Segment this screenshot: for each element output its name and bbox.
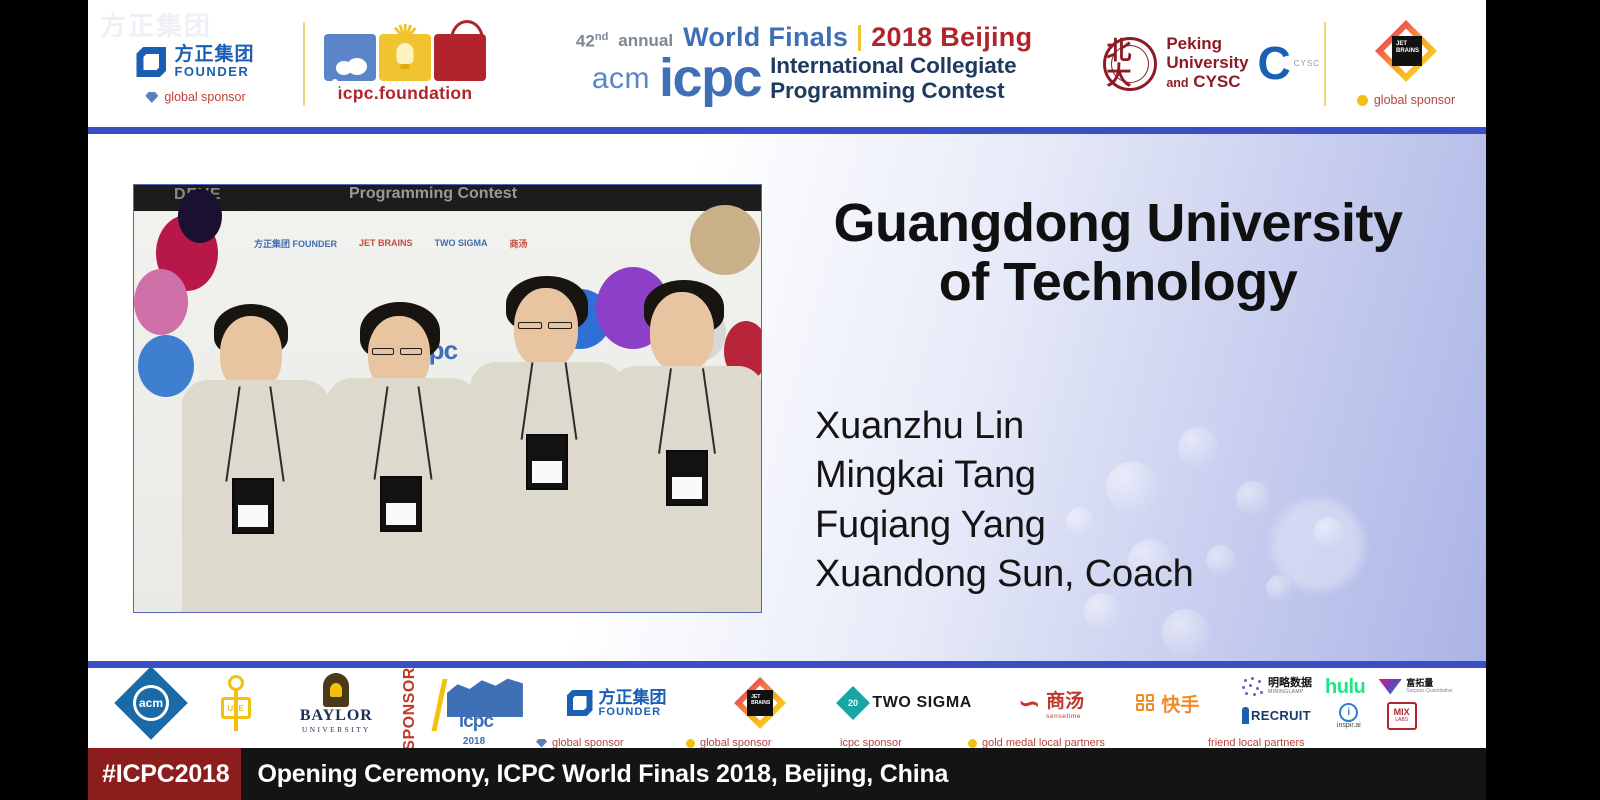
icpc-wall-label: icpc [459,711,493,733]
foundation-tile-cloud [324,34,376,81]
foundation-logo-icon [324,23,486,81]
jetbrains-logo-icon-footer: JET BRAINS [734,677,786,729]
recruit-label: RECRUIT [1251,708,1311,723]
peking-university-text: Peking University and CYSC [1166,35,1248,91]
broadcast-caption-bar: #ICPC2018 Opening Ceremony, ICPC World F… [88,748,1486,800]
founder-sponsor-tag: global sponsor [145,90,245,104]
mixlabs-line1: MIX [1394,708,1410,717]
team-member-4 [608,264,762,612]
header-separator-bar [858,25,861,51]
team-photo: DEVE Programming Contest 方正集团 FOUNDER JE… [133,184,762,613]
footer-sponsor-icpc-beijing: icpc 2018 [425,675,537,731]
peking-university-seal-icon: 北大 [1103,37,1157,91]
founder-footer-lockup: 方正集团 FOUNDER [567,689,667,718]
caption-global-sponsor-2: global sponsor [686,737,772,748]
local-partner-row-2: RECRUIT i inspir.ai MIX LABS [1242,702,1453,730]
founder-footer-cn: 方正集团 [599,689,667,706]
mininglamp-cn: 明略数据 [1268,678,1312,689]
inspirai-lockup: i inspir.ai [1337,703,1361,729]
mininglamp-lockup: 明略数据 MININGLAMP [1242,677,1312,697]
caption-icpc-sponsor: icpc sponsor [840,737,902,748]
balloon-icon [450,20,484,64]
upe-logo-text: UPE [221,697,251,719]
year-city-label: 2018 Beijing [871,22,1032,53]
kuaishou-mark-icon [1136,694,1156,712]
sponsor-icpc-foundation: icpc.foundation [305,23,505,104]
founder-lockup: 方正集团 FOUNDER [136,45,254,80]
acm-logo-icon: acm [114,668,188,740]
icpc-subtitle-line2: Programming Contest [770,79,1016,103]
slide-title-line2: of Technology [788,253,1448,312]
footer-sponsor-kuaishou: 快手 [1113,690,1223,717]
cysc-sub-label: CYSC [1294,59,1320,68]
icpc-wordmark-lockup: 42nd annual World Finals 2018 Beijing ac… [505,22,1103,104]
jetbrains-sponsor-tag: global sponsor [1357,93,1455,107]
founder-english-name: FOUNDER [174,64,254,79]
caption-title-text: Opening Ceremony, ICPC World Finals 2018… [241,748,1486,800]
mininglamp-en: MININGLAMP [1268,689,1312,695]
peking-line2: University [1166,54,1248,73]
sensetime-en: sensetime [1046,713,1084,720]
footer-sponsor-local-partners: 明略数据 MININGLAMP hulu 富拓量 Surpass Quantit… [1223,677,1472,730]
caption-gold-medal-partners: gold medal local partners [968,737,1105,748]
cysc-mark-icon: C [1258,47,1291,79]
mixlabs-line2: LABS [1395,717,1408,723]
caption-text-1: global sponsor [552,737,624,748]
sponsor-footer: acm UPE BAYLOR UNIVERSITY SPONS [88,668,1486,748]
team-member-name-3: Fuqiang Yang [815,501,1194,550]
hashtag-badge: #ICPC2018 [88,748,241,800]
footer-sponsor-sensetime: ∽ 商汤 sensetime [989,686,1113,720]
team-member-name-2: Mingkai Tang [815,451,1194,500]
team-member-3 [470,262,624,612]
team-member-2 [326,274,478,612]
peking-line3: and CYSC [1166,73,1248,92]
two-sigma-label: TWO SIGMA [872,694,972,712]
backdrop-logo-sensetime: 商汤 [510,237,528,250]
footer-sponsors-vertical-label: SPONSORS [395,668,425,748]
event-header-banner: 方正集团 方正集团 FOUNDER global sponsor [88,0,1486,127]
kuaishou-cn: 快手 [1161,690,1199,717]
icpc-subtitle-line1: International Collegiate [770,54,1016,78]
jetbrains-logo-icon: JET BRAINS [1375,20,1437,82]
presentation-slide: DEVE Programming Contest 方正集团 FOUNDER JE… [88,134,1486,661]
cysc-logo: C CYSC [1258,47,1320,79]
footer-sponsor-founder: 方正集团 FOUNDER [537,689,697,718]
dot-icon-footer-2 [968,739,977,748]
diamond-icon-footer [536,739,547,748]
screen: 方正集团 方正集团 FOUNDER global sponsor [0,0,1600,800]
jetbrains-sponsor-label: global sponsor [1374,93,1455,107]
baylor-shield-icon [323,673,349,707]
hulu-label: hulu [1325,677,1365,697]
two-sigma-mark-icon: 20 [836,686,870,720]
acm-icpc-line: acm icpc International Collegiate Progra… [592,54,1017,102]
mixlabs-logo-icon: MIX LABS [1387,702,1417,730]
acm-logo-text: acm [139,696,163,710]
footer-sponsor-upe: UPE [194,675,278,731]
upe-logo-icon: UPE [219,675,253,731]
slide-title-line1: Guangdong University [788,194,1448,253]
backdrop-logo-founder: 方正集团 FOUNDER [254,237,337,250]
founder-chinese-name: 方正集团 [174,45,254,65]
rays-icon [377,16,433,40]
footer-sponsor-acm: acm [108,677,194,729]
founder-sponsor-label: global sponsor [164,90,245,104]
header-divider-2 [1324,22,1326,106]
kuaishou-lockup: 快手 [1136,690,1199,717]
local-partner-grid: 明略数据 MININGLAMP hulu 富拓量 Surpass Quantit… [1242,677,1453,730]
baylor-name: BAYLOR [300,707,373,725]
photo-backdrop-logos: 方正集团 FOUNDER JET BRAINS TWO SIGMA 商汤 [254,219,674,267]
caption-global-sponsor-1: global sponsor [536,737,624,748]
header-bottom-divider [88,127,1486,134]
recruit-mark-icon [1242,707,1249,724]
header-watermark: 方正集团 [100,6,212,43]
founder-logo-icon-footer [567,690,593,716]
jetbrains-mark-text: JET BRAINS [1396,41,1422,54]
foundation-tile-bulb [379,34,431,81]
sensetime-cn: 商汤 [1046,686,1084,713]
diamond-icon [145,92,158,103]
sensetime-lockup: ∽ 商汤 sensetime [1018,686,1084,720]
two-sigma-lockup: 20 TWO SIGMA [841,691,972,715]
caption-text-2: global sponsor [700,737,772,748]
sponsor-category-captions: global sponsor global sponsor icpc spons… [88,737,1486,748]
recruit-lockup: RECRUIT [1242,707,1311,724]
surpass-lockup: 富拓量 Surpass Quantitative [1378,679,1452,695]
edition-number: 42nd [576,31,608,52]
team-member-1 [180,282,330,612]
caption-text-5: friend local partners [1208,737,1305,748]
team-member-name-4: Xuandong Sun, Coach [815,550,1194,599]
team-member-list: Xuanzhu Lin Mingkai Tang Fuqiang Yang Xu… [815,402,1194,600]
founder-footer-en: FOUNDER [599,706,667,718]
caption-friend-partners: friend local partners [1208,737,1305,748]
backdrop-logo-twosigma: TWO SIGMA [435,238,488,248]
sponsor-logo-row: acm UPE BAYLOR UNIVERSITY SPONS [88,668,1486,734]
peking-seal-glyph: 北大 [1106,39,1154,89]
cloud-icon [332,57,372,79]
balloon-dark [178,189,222,243]
surpass-mark-icon [1378,679,1402,695]
team-member-name-1: Xuanzhu Lin [815,402,1194,451]
acm-label: acm [592,62,650,96]
founder-logo-icon [136,47,166,77]
baylor-subname: UNIVERSITY [302,725,371,734]
local-partner-row-1: 明略数据 MININGLAMP hulu 富拓量 Surpass Quantit… [1242,677,1453,697]
great-wall-icpc-icon: icpc 2018 [437,675,525,731]
backdrop-logo-jetbrains: JET BRAINS [359,238,413,248]
sponsor-jetbrains-header: JET BRAINS global sponsor [1326,20,1486,107]
mininglamp-dots-icon [1242,677,1264,697]
footer-top-divider [88,661,1486,668]
icpc-subtitle: International Collegiate Programming Con… [770,54,1016,102]
caption-text-4: gold medal local partners [982,737,1105,748]
surpass-en: Surpass Quantitative [1406,688,1452,694]
sensetime-mark-icon: ∽ [1018,693,1040,714]
caption-text-3: icpc sponsor [840,737,902,748]
lightbulb-icon [397,43,414,64]
slide-title-block: Guangdong University of Technology [788,194,1448,313]
backdrop-title: Programming Contest [349,185,517,203]
sponsors-vertical-text: SPONSORS [401,668,419,748]
host-peking-university: 北大 Peking University and CYSC C CYSC [1103,35,1324,91]
dot-icon-footer-1 [686,739,695,748]
video-frame: 方正集团 方正集团 FOUNDER global sponsor [88,0,1486,748]
dot-icon [1357,95,1368,106]
icpc-label: icpc [659,55,761,103]
footer-sponsor-two-sigma: 20 TWO SIGMA [824,691,990,715]
foundation-label: icpc.foundation [338,83,473,104]
foundation-tile-balloon [434,34,486,81]
surpass-cn: 富拓量 [1406,679,1452,688]
world-finals-line: 42nd annual World Finals 2018 Beijing [576,22,1032,53]
peking-line1: Peking [1166,35,1248,54]
jetbrains-footer-text: JET BRAINS [751,695,773,706]
footer-sponsor-baylor: BAYLOR UNIVERSITY [278,673,396,734]
footer-sponsor-jetbrains: JET BRAINS [696,677,824,729]
inspirai-label: inspir.ai [1337,722,1361,729]
inspirai-mark-icon: i [1339,703,1358,722]
